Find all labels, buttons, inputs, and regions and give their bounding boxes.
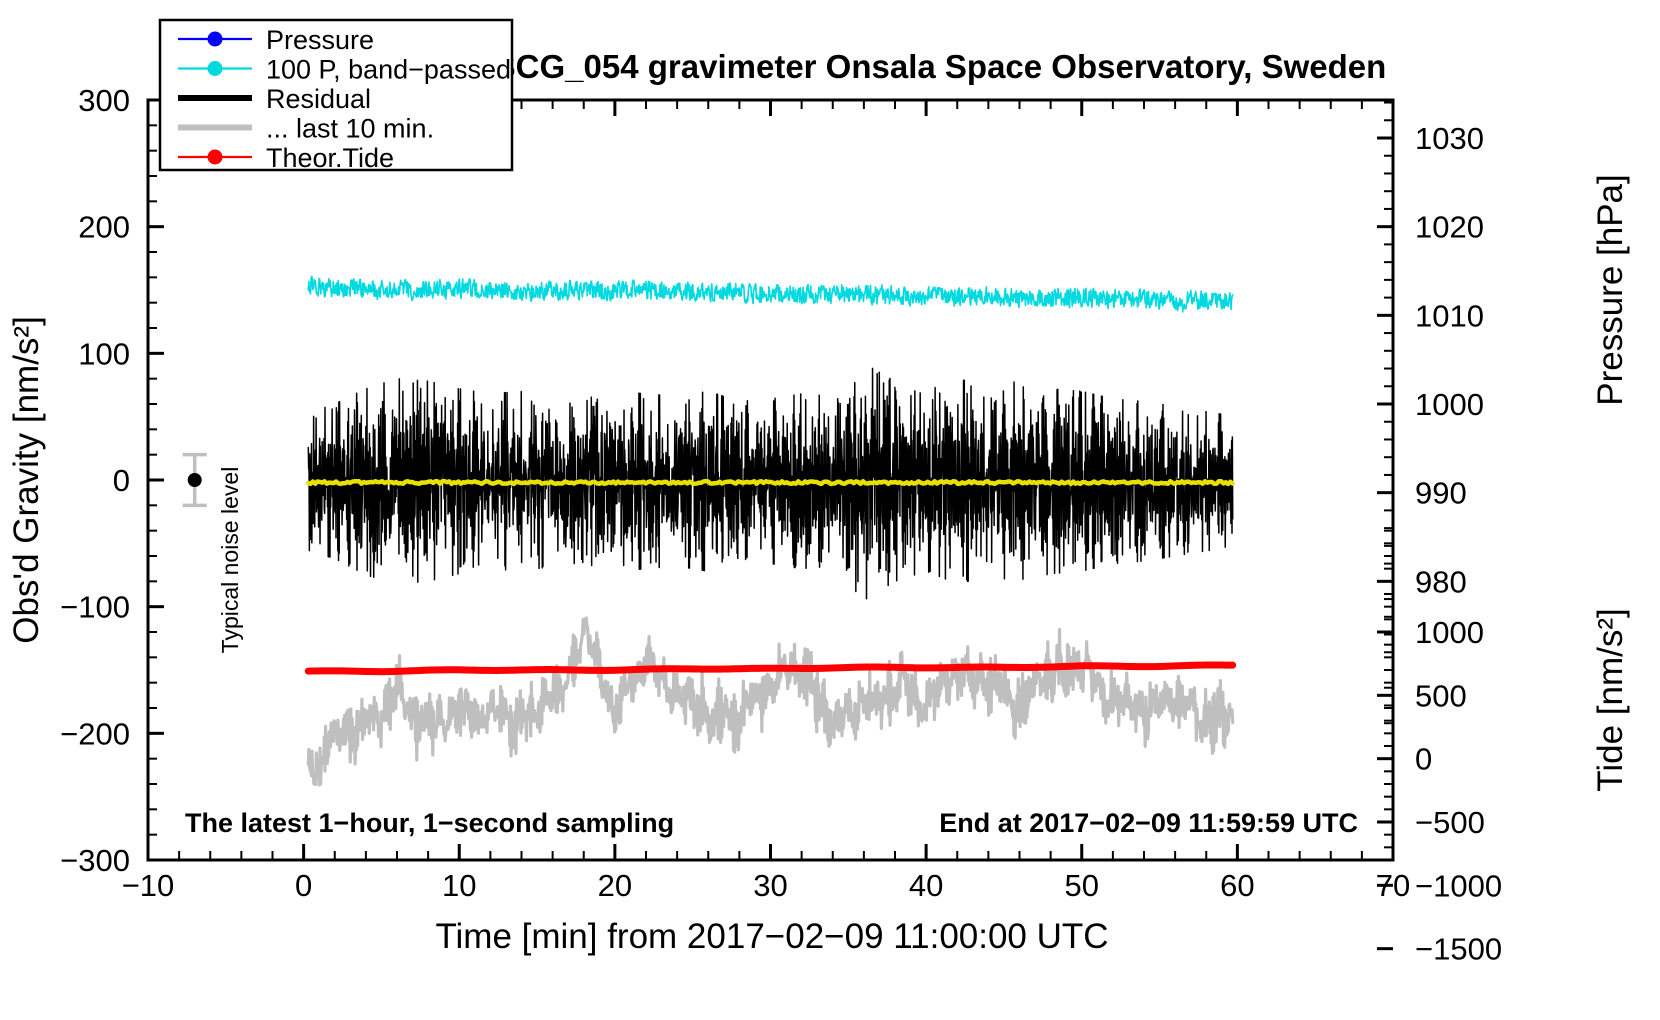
x-tick-label: 40	[909, 868, 943, 903]
sampling-note: The latest 1−hour, 1−second sampling	[185, 808, 674, 838]
legend-marker-2	[208, 61, 223, 76]
x-tick-label: 10	[442, 868, 476, 903]
x-tick-label: 30	[753, 868, 787, 903]
y-pressure-tick-label: 980	[1415, 564, 1467, 599]
legend-label-4[interactable]: ... last 10 min.	[266, 114, 434, 144]
y-pressure-tick-label: 990	[1415, 476, 1467, 511]
noise-level-point	[188, 473, 202, 487]
y-tide-tick-label: −1500	[1415, 932, 1502, 967]
x-axis-title: Time [min] from 2017−02−09 11:00:00 UTC	[435, 917, 1108, 956]
y-tide-tick-label: 0	[1415, 742, 1432, 777]
gravimeter-plot-figure: SCG_054 gravimeter Onsala Space Observat…	[0, 0, 1660, 1020]
y-tide-tick-label: −500	[1415, 805, 1485, 840]
legend-label-3[interactable]: Residual	[266, 84, 371, 114]
y-pressure-tick-label: 1010	[1415, 298, 1484, 333]
y-left-tick-label: 300	[78, 83, 130, 118]
legend-marker-5	[208, 150, 223, 165]
y-left-tick-label: −100	[60, 590, 130, 625]
end-time-note: End at 2017−02−09 11:59:59 UTC	[939, 808, 1358, 838]
y-tide-tick-label: 1000	[1415, 615, 1484, 650]
y-left-tick-label: −200	[60, 716, 130, 751]
legend-marker-1	[208, 32, 223, 47]
legend-label-1[interactable]: Pressure	[266, 25, 374, 55]
x-tick-label: 50	[1065, 868, 1099, 903]
page-title: SCG_054 gravimeter Onsala Space Observat…	[494, 48, 1387, 85]
y-pressure-tick-label: 1030	[1415, 121, 1484, 156]
noise-level-label: Typical noise level	[217, 467, 243, 654]
trace-last-10-min	[308, 618, 1232, 785]
y-axis-pressure-title: Pressure [hPa]	[1591, 174, 1630, 406]
y-left-tick-label: 0	[113, 463, 130, 498]
trace-residual-mean	[308, 481, 1232, 484]
y-left-tick-label: −300	[60, 843, 130, 878]
typical-noise-level-marker	[183, 455, 207, 506]
legend-label-2[interactable]: 100 P, band−passed	[266, 55, 511, 85]
data-traces	[308, 276, 1232, 785]
legend-label-5[interactable]: Theor.Tide	[266, 143, 394, 173]
x-tick-label: 60	[1220, 868, 1254, 903]
y-axis-tide-title: Tide [nm/s²]	[1591, 608, 1630, 791]
x-tick-label: 20	[598, 868, 632, 903]
y-left-tick-label: 200	[78, 210, 130, 245]
legend[interactable]: Pressure100 P, band−passedResidual... la…	[160, 20, 512, 173]
y-tide-tick-label: 500	[1415, 678, 1467, 713]
x-tick-label: 0	[295, 868, 312, 903]
y-left-tick-label: 100	[78, 336, 130, 371]
trace-pressure-bandpassed	[308, 276, 1232, 311]
plot-canvas: SCG_054 gravimeter Onsala Space Observat…	[0, 0, 1660, 1020]
y-axis-left-ticks: 3002001000−100−200−300	[60, 83, 164, 878]
y-pressure-tick-label: 1020	[1415, 210, 1484, 245]
y-axis-left-title: Obs'd Gravity [nm/s²]	[7, 316, 46, 644]
y-pressure-tick-label: 1000	[1415, 387, 1484, 422]
y-tide-tick-label: −1000	[1415, 868, 1502, 903]
